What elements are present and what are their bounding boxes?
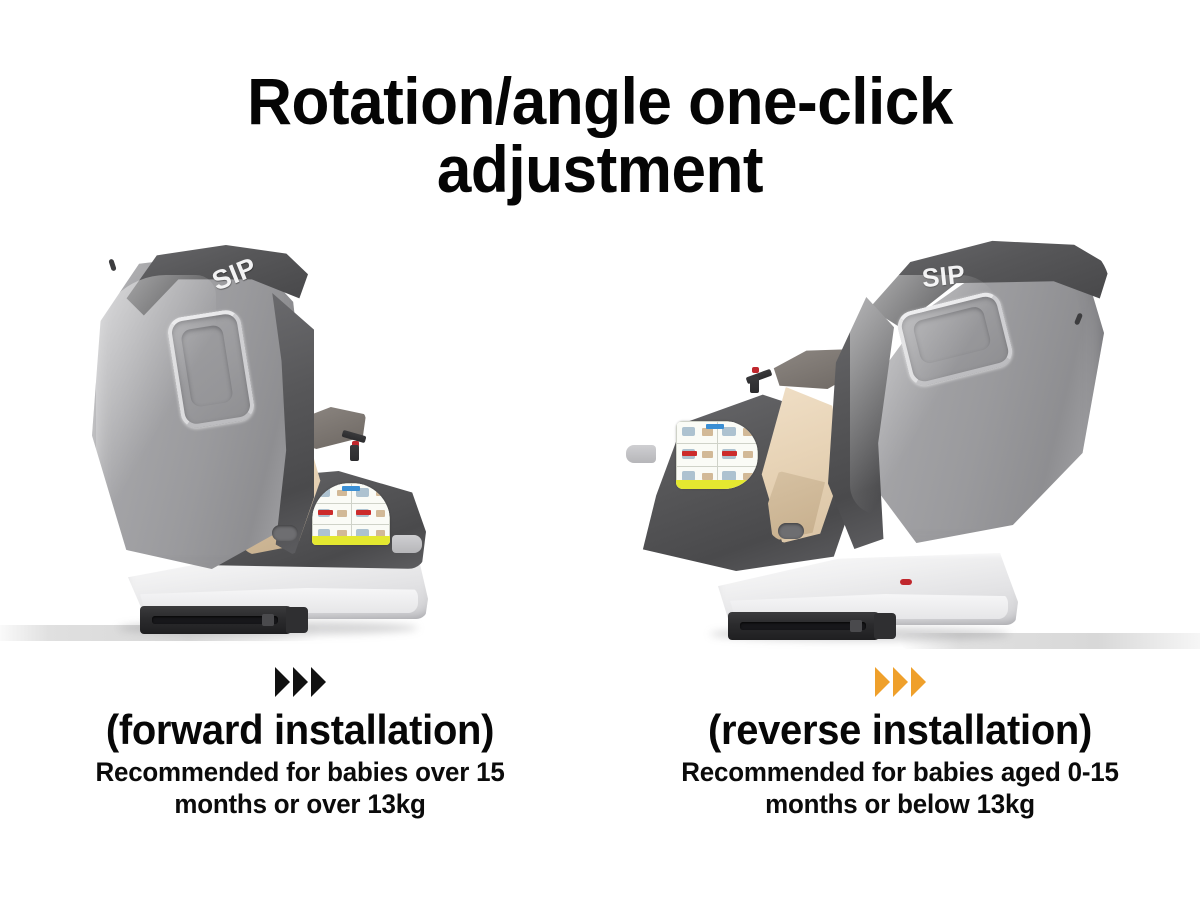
- caption-subtitle-forward: Recommended for babies over 15 months or…: [12, 757, 588, 820]
- infographic-poster: Rotation/angle one-click adjustment: [0, 0, 1200, 924]
- sticker-tab-red-a: [682, 451, 697, 456]
- recline-handle-left: [392, 535, 422, 553]
- sticker-footer-strip: [676, 480, 758, 489]
- sip-badge-right: SIP: [920, 259, 966, 294]
- rim-notch-left: [108, 259, 116, 272]
- chevron-right-icon: [275, 667, 290, 697]
- sticker-tab-blue: [342, 486, 360, 491]
- isofix-cap-left: [286, 607, 308, 633]
- car-seat-forward: SIP: [0, 235, 600, 665]
- isofix-slot-right: [740, 622, 866, 630]
- harness-buckle-right: [752, 367, 759, 373]
- chevron-right-icon: [293, 667, 308, 697]
- isofix-cap-right: [874, 613, 896, 639]
- page-title: Rotation/angle one-click adjustment: [36, 68, 1164, 204]
- product-illustration-forward: SIP: [0, 235, 600, 665]
- chevron-right-icon: [911, 667, 926, 697]
- chevron-right-icon: [311, 667, 326, 697]
- sticker-tab-red-b: [722, 451, 737, 456]
- instruction-sticker-right: [676, 421, 758, 489]
- isofix-tab-right: [850, 620, 862, 632]
- car-seat-reverse: SIP: [600, 235, 1200, 665]
- caption-subtitle-reverse: Recommended for babies aged 0-15 months …: [612, 757, 1188, 820]
- chevron-group-forward: [0, 665, 600, 699]
- isofix-slot-left: [152, 616, 278, 624]
- isofix-tab-left: [262, 614, 274, 626]
- harness-anchor-right: [750, 377, 759, 393]
- instruction-sticker-left: [312, 483, 390, 545]
- base-indicator-right: [900, 579, 912, 585]
- sticker-tab-blue: [706, 424, 724, 429]
- belt-guide-slot-right: [778, 523, 804, 539]
- sticker-footer-strip: [312, 536, 390, 545]
- chevron-right-icon: [875, 667, 890, 697]
- caption-forward: (forward installation) Recommended for b…: [0, 665, 600, 820]
- caption-title-reverse: (reverse installation): [615, 707, 1185, 752]
- chevron-group-reverse: [600, 665, 1200, 699]
- chevron-right-icon: [893, 667, 908, 697]
- product-scene: SIP: [0, 235, 1200, 665]
- caption-title-forward: (forward installation): [15, 707, 585, 752]
- recline-handle-right: [626, 445, 656, 463]
- sticker-tab-red-b: [356, 510, 371, 515]
- sticker-tab-red-a: [318, 510, 333, 515]
- product-illustration-reverse: SIP: [600, 235, 1200, 665]
- belt-guide-slot-left: [272, 525, 298, 541]
- harness-anchor-left: [350, 445, 359, 461]
- caption-reverse: (reverse installation) Recommended for b…: [600, 665, 1200, 820]
